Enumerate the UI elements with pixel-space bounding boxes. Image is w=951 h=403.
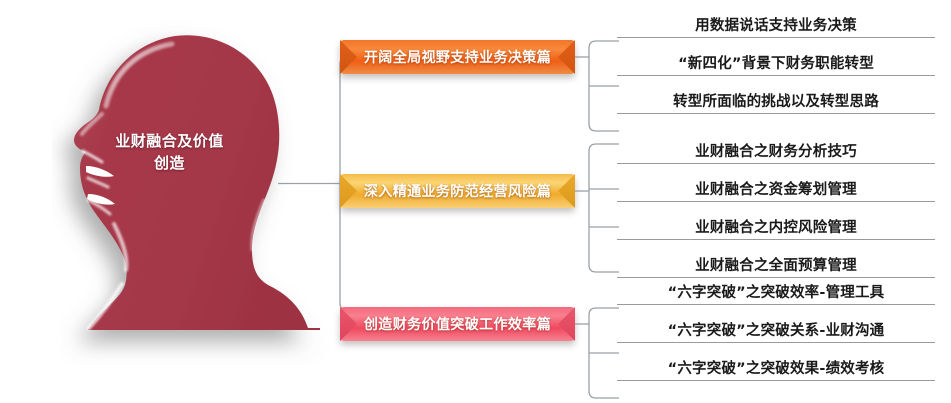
list-item: 转型所面临的挑战以及转型思路 [617,84,935,114]
item-label: 用数据说话支持业务决策 [695,14,857,35]
list-item: “六字突破”之突破效率-管理工具 [617,275,935,305]
branch-1-items-connector [575,40,619,132]
branch-1-banner[interactable]: 开阔全局视野支持业务决策篇 [340,40,575,74]
list-item: “新四化”背景下财务职能转型 [617,46,935,76]
mindmap-canvas: 业财融合及价值 创造 开阔全局视野支持业务决策篇 [0,0,951,403]
item-label: “六字突破”之突破关系-业财沟通 [668,319,885,340]
list-item: 用数据说话支持业务决策 [617,8,935,38]
branch-2-banner-label: 深入精通业务防范经营风险篇 [340,174,575,208]
item-label: “六字突破”之突破效率-管理工具 [668,281,885,302]
branch-1-banner-label: 开阔全局视野支持业务决策篇 [340,40,575,74]
list-item: 业财融合之内控风险管理 [617,210,935,240]
item-label: “六字突破”之突破效果-绩效考核 [668,357,885,378]
item-label: 业财融合之内控风险管理 [695,216,857,237]
list-item: 业财融合之财务分析技巧 [617,134,935,164]
list-item: “六字突破”之突破关系-业财沟通 [617,313,935,343]
branch-3-banner[interactable]: 创造财务价值突破工作效率篇 [340,307,575,341]
item-label: 转型所面临的挑战以及转型思路 [673,90,879,111]
item-label: 业财融合之资金筹划管理 [695,178,857,199]
branch-3-banner-label: 创造财务价值突破工作效率篇 [340,307,575,341]
item-label: “新四化”背景下财务职能转型 [678,52,874,73]
branch-2-items-connector [575,143,619,273]
branch-2-banner[interactable]: 深入精通业务防范经营风险篇 [340,174,575,208]
list-item: “六字突破”之突破效果-绩效考核 [617,351,935,381]
list-item: 业财融合之全面预算管理 [617,248,935,278]
item-label: 业财融合之全面预算管理 [695,254,857,275]
center-to-branches-connector [278,40,348,325]
branch-3-items-connector [575,307,619,399]
list-item: 业财融合之资金筹划管理 [617,172,935,202]
item-label: 业财融合之财务分析技巧 [695,140,857,161]
